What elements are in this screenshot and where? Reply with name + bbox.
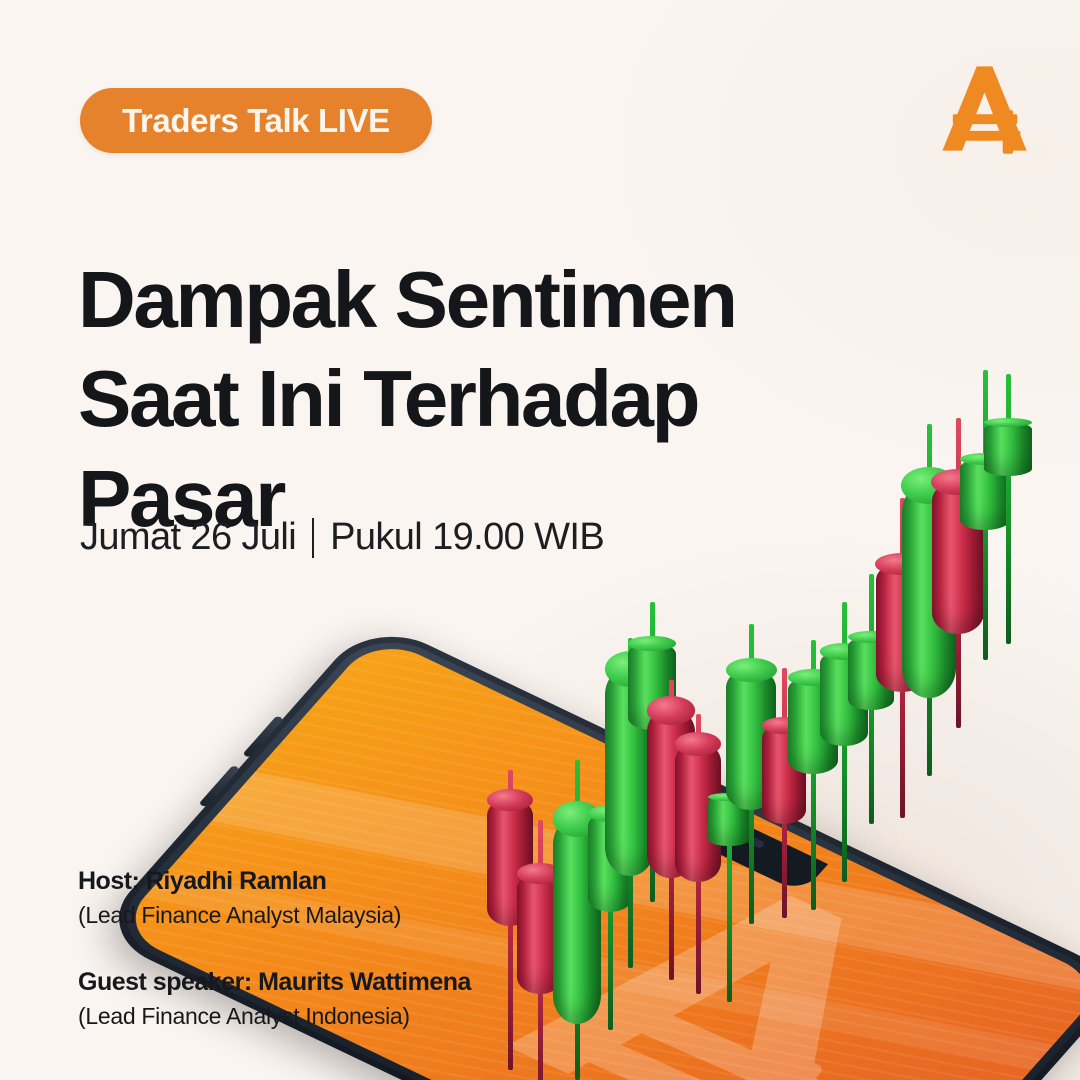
candle-bullish	[708, 782, 750, 1002]
phone-volume-button	[242, 715, 284, 757]
candle-bearish	[675, 714, 721, 994]
poster-canvas: Traders Talk LIVE Dampak Sentimen Saat I…	[0, 0, 1080, 1080]
candle-bullish	[902, 424, 956, 776]
candle-bullish	[588, 760, 632, 1030]
candle-bearish	[876, 498, 928, 818]
phone-earpiece-speaker	[685, 807, 766, 849]
candle-bullish	[960, 370, 1010, 660]
candle-bullish	[726, 624, 776, 924]
phone-notch	[612, 774, 828, 894]
live-badge-label: Traders Talk LIVE	[122, 102, 390, 140]
host-role: (Lead Finance Analyst Malaysia)	[78, 901, 548, 931]
candle-bullish	[848, 574, 894, 824]
brand-a-logo-icon	[930, 56, 1038, 160]
host-credit: Host: Riyadhi Ramlan (Lead Finance Analy…	[78, 866, 548, 931]
schedule-separator	[312, 518, 314, 558]
guest-credit: Guest speaker: Maurits Wattimena (Lead F…	[78, 967, 548, 1032]
page-title: Dampak Sentimen Saat Ini Terhadap Pasar	[78, 250, 838, 549]
speaker-credits: Host: Riyadhi Ramlan (Lead Finance Analy…	[78, 866, 548, 1032]
guest-role: (Lead Finance Analyst Indonesia)	[78, 1002, 548, 1032]
guest-name: Guest speaker: Maurits Wattimena	[78, 967, 548, 998]
host-name: Host: Riyadhi Ramlan	[78, 866, 548, 897]
candle-bullish	[788, 640, 838, 910]
candle-bullish	[553, 760, 601, 1080]
candle-bearish	[647, 680, 695, 980]
candle-bullish	[820, 602, 868, 882]
candle-bearish	[932, 418, 984, 728]
live-badge[interactable]: Traders Talk LIVE	[80, 88, 432, 153]
phone-volume-button	[199, 765, 241, 807]
page-title-line-1: Dampak Sentimen	[78, 250, 838, 350]
event-date: Jumat 26 Juli	[80, 516, 296, 559]
page-title-line-2: Saat Ini Terhadap	[78, 349, 838, 449]
event-schedule: Jumat 26 Juli Pukul 19.00 WIB	[80, 516, 604, 559]
candle-bearish	[762, 668, 806, 918]
candle-bullish	[628, 602, 676, 902]
candle-bullish	[605, 638, 655, 968]
event-time: Pukul 19.00 WIB	[330, 516, 604, 559]
candle-bullish	[984, 374, 1032, 644]
